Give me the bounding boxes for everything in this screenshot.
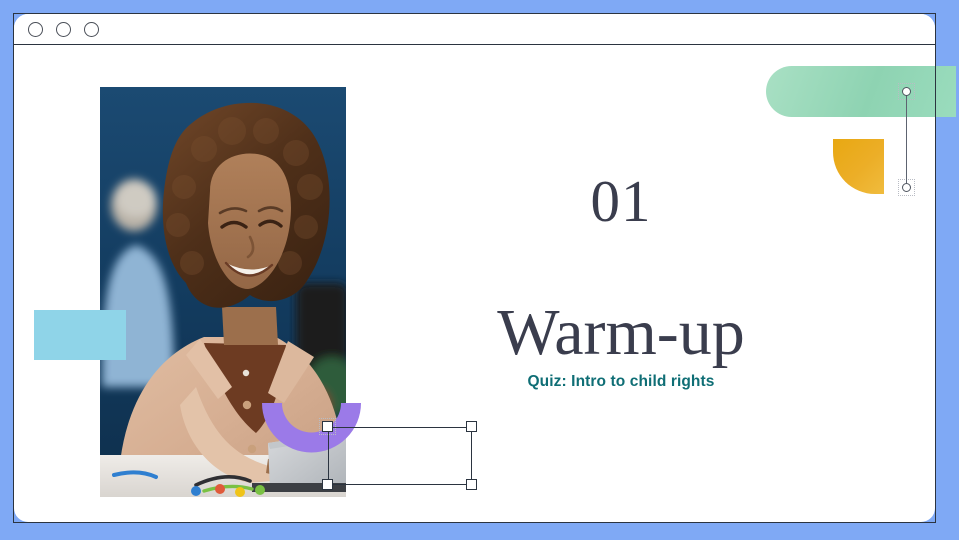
slide-number[interactable]: 01 <box>497 172 745 231</box>
window-titlebar <box>14 14 935 45</box>
connector-handle-bottom[interactable] <box>902 183 911 192</box>
slide-editor-canvas: 01 Warm-up Quiz: Intro to child rights <box>0 0 959 540</box>
slide-title[interactable]: Warm-up <box>486 298 756 367</box>
window-close-dot-icon[interactable] <box>28 22 43 37</box>
decoration-teal-rectangle[interactable] <box>34 310 126 360</box>
slide-subtitle[interactable]: Quiz: Intro to child rights <box>456 373 786 391</box>
window-maximize-dot-icon[interactable] <box>84 22 99 37</box>
decoration-green-pill[interactable] <box>766 66 956 117</box>
selection-handle-bottom-left[interactable] <box>322 479 333 490</box>
selection-handle-bottom-right[interactable] <box>466 479 477 490</box>
window-controls <box>28 22 99 37</box>
connector-line[interactable] <box>906 92 907 188</box>
shape-selection-box[interactable] <box>328 427 472 485</box>
selection-handle-top-left[interactable] <box>322 421 333 432</box>
selection-handle-top-right[interactable] <box>466 421 477 432</box>
connector-handle-top[interactable] <box>902 87 911 96</box>
window-minimize-dot-icon[interactable] <box>56 22 71 37</box>
